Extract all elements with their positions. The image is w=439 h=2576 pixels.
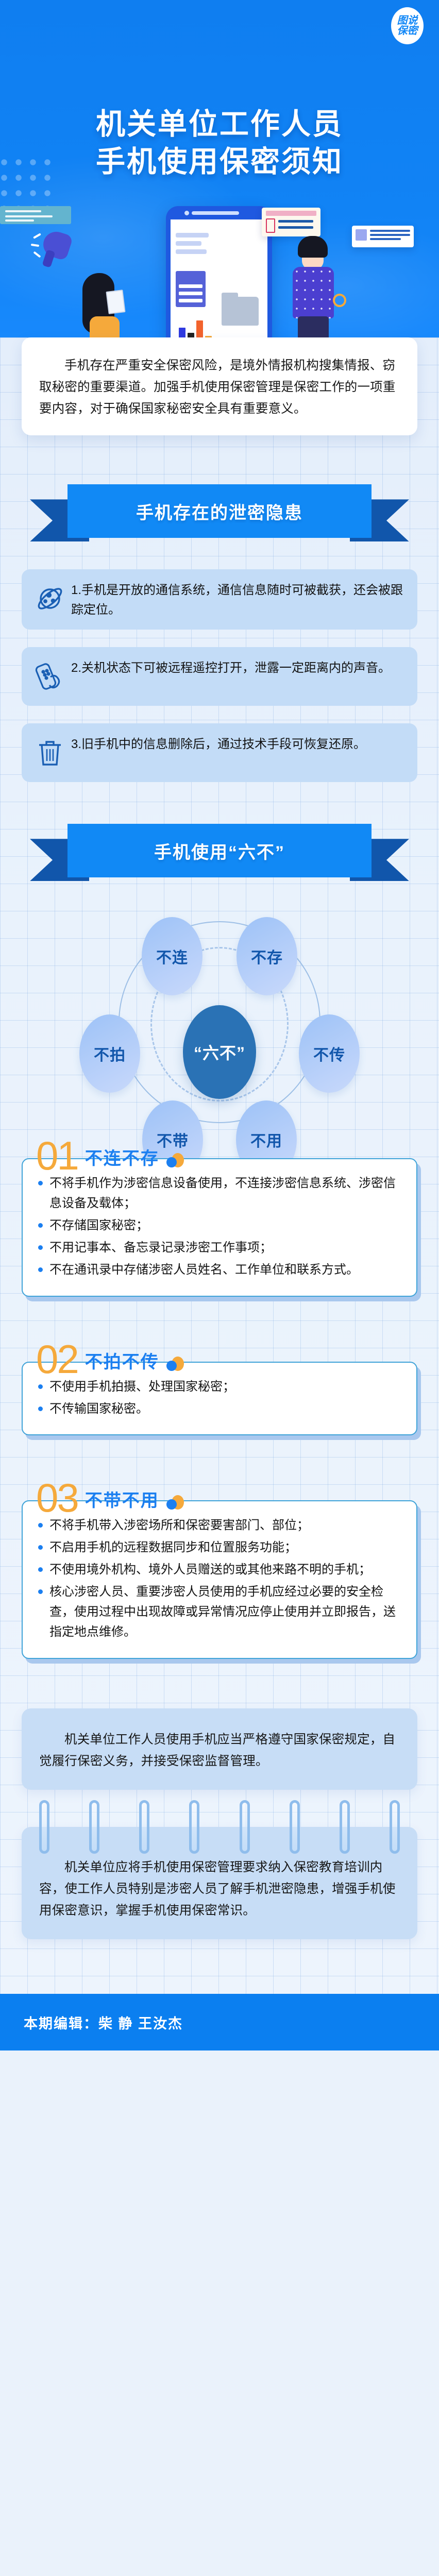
conclusion-paragraph: 机关单位应将手机使用保密管理要求纳入保密教育培训内容，使工作人员特别是涉密人员了… [39,1857,400,1922]
list-item: 不使用手机拍摄、处理国家秘密； [36,1377,403,1397]
phone-tap-icon [31,657,69,696]
list-item: 核心涉密人员、重要涉密人员使用的手机应经过必要的安全检查，使用过程中出现故障或异… [36,1582,403,1642]
list-item: 不用记事本、备忘录记录涉密工作事项； [36,1238,403,1258]
numbered-section-02: 02 不拍不传 不使用手机拍摄、处理国家秘密； 不传输国家秘密。 [22,1335,417,1436]
section-header: 03 不带不用 [22,1473,417,1515]
risk-item-text: 1.手机是开放的通信系统，通信信息随时可被截获，还会被跟踪定位。 [69,580,406,619]
footer-bar: 本期编辑：柴 静 王汝杰 [0,1994,439,2050]
decorative-dots-icon [166,1495,184,1510]
sixno-banner: 手机使用“六不” [0,820,439,881]
section-header: 01 不连不存 [22,1131,417,1173]
risk-list: 1.手机是开放的通信系统，通信信息随时可被截获，还会被跟踪定位。 [22,569,417,782]
intro-card: 手机存在严重安全保密风险，是境外情报机构搜集情报、窃取秘密的重要渠道。加强手机使… [22,337,417,435]
sixno-core-label: “六不” [194,1040,245,1064]
section-title: 不连不存 [85,1144,159,1173]
tushuo-baomi-badge: 图说 保密 [391,7,424,44]
bullet-list: 不将手机带入涉密场所和保密要害部门、部位； 不启用手机的远程数据同步和位置服务功… [36,1516,403,1642]
section-card: 不将手机带入涉密场所和保密要害部门、部位； 不启用手机的远程数据同步和位置服务功… [22,1500,417,1658]
sixno-bubble-bupai: 不拍 [79,1014,140,1093]
title-line-2: 手机使用保密须知 [0,143,439,181]
conclusion-card-2: 机关单位应将手机使用保密管理要求纳入保密教育培训内容，使工作人员特别是涉密人员了… [22,1827,417,1939]
section-number: 01 [36,1140,78,1173]
hero-section: 图说 保密 机关单位工作人员 手机使用保密须知 [0,0,439,384]
risks-banner: 手机存在的泄密隐患 [0,481,439,541]
list-item: 不将手机作为涉密信息设备使用，不连接涉密信息系统、涉密信息设备及载体； [36,1174,403,1214]
badge-line-1: 图说 [397,15,418,26]
trash-bin-icon [31,734,69,772]
list-item: 3.旧手机中的信息删除后，通过技术手段可恢复还原。 [22,723,417,782]
editor-credit: 本期编辑：柴 静 王汝杰 [24,2012,183,2032]
decorative-dots-icon [166,1153,184,1167]
ribbon-main-sixno: 手机使用“六不” [67,824,372,877]
numbered-section-03: 03 不带不用 不将手机带入涉密场所和保密要害部门、部位； 不启用手机的远程数据… [22,1473,417,1658]
risk-item-text: 3.旧手机中的信息删除后，通过技术手段可恢复还原。 [69,734,406,754]
sixno-bubble-buchuan: 不传 [299,1014,360,1093]
sixno-bubble-buliang: 不连 [142,917,202,995]
section-title: 不拍不传 [85,1348,159,1376]
list-item: 不启用手机的远程数据同步和位置服务功能； [36,1538,403,1558]
megaphone-icon [34,230,72,267]
satellite-orbit-icon [31,580,69,618]
list-item: 1.手机是开放的通信系统，通信信息随时可被截获，还会被跟踪定位。 [22,569,417,630]
risk-item-text: 2.关机状态下可被远程遥控打开，泄露一定距离内的声音。 [69,657,406,677]
conclusion-card-1: 机关单位工作人员使用手机应当严格遵守国家保密规定，自觉履行保密义务，并接受保密监… [22,1708,417,1790]
bullet-list: 不将手机作为涉密信息设备使用，不连接涉密信息系统、涉密信息设备及载体； 不存储国… [36,1174,403,1280]
message-card-teal [0,206,71,224]
bubble-label: 不存 [251,945,283,968]
bubble-label: 不传 [313,1042,345,1065]
list-item: 不传输国家秘密。 [36,1399,403,1419]
list-item: 不将手机带入涉密场所和保密要害部门、部位； [36,1516,403,1536]
title-line-1: 机关单位工作人员 [0,106,439,143]
section-header: 02 不拍不传 [22,1335,417,1376]
notification-card-white [352,226,414,247]
body-section: 手机存在严重安全保密风险，是境外情报机构搜集情报、窃取秘密的重要渠道。加强手机使… [0,337,439,1994]
bubble-label: 不拍 [94,1042,126,1065]
sixno-bubble-bucun: 不存 [237,917,297,995]
bubble-label: 不连 [156,945,188,968]
list-item: 不使用境外机构、境外人员赠送的或其他来路不明的手机； [36,1560,403,1580]
magnifier-icon [333,294,346,307]
sixno-banner-title: 手机使用“六不” [154,838,285,863]
list-item: 不在通讯录中存储涉密人员姓名、工作单位和联系方式。 [36,1260,403,1280]
list-item: 不存储国家秘密； [36,1216,403,1236]
page-title: 机关单位工作人员 手机使用保密须知 [0,106,439,181]
notification-card-pink [262,208,320,236]
decorative-dots-icon [166,1357,184,1371]
ribbon-main-risks: 手机存在的泄密隐患 [67,484,372,538]
risks-banner-title: 手机存在的泄密隐患 [136,499,303,524]
folder-icon [222,297,259,326]
sixno-diagram: 不连 不存 不拍 不传 不带 不用 “六不” [0,889,439,1131]
section-number: 02 [36,1343,78,1376]
conclusion-paragraph: 机关单位工作人员使用手机应当严格遵守国家保密规定，自觉履行保密义务，并接受保密监… [39,1729,400,1772]
sixno-core: “六不” [183,1005,256,1099]
infographic-poster: 图说 保密 机关单位工作人员 手机使用保密须知 [0,0,439,2576]
spiral-binding-icon [39,1800,400,1854]
list-item: 2.关机状态下可被远程遥控打开，泄露一定距离内的声音。 [22,647,417,706]
numbered-section-01: 01 不连不存 不将手机作为涉密信息设备使用，不连接涉密信息系统、涉密信息设备及… [22,1131,417,1296]
section-title: 不带不用 [85,1486,159,1515]
badge-line-2: 保密 [397,26,418,36]
intro-paragraph: 手机存在严重安全保密风险，是境外情报机构搜集情报、窃取秘密的重要渠道。加强手机使… [39,355,400,420]
section-number: 03 [36,1482,78,1515]
section-card: 不将手机作为涉密信息设备使用，不连接涉密信息系统、涉密信息设备及载体； 不存储国… [22,1158,417,1296]
bullet-list: 不使用手机拍摄、处理国家秘密； 不传输国家秘密。 [36,1377,403,1419]
